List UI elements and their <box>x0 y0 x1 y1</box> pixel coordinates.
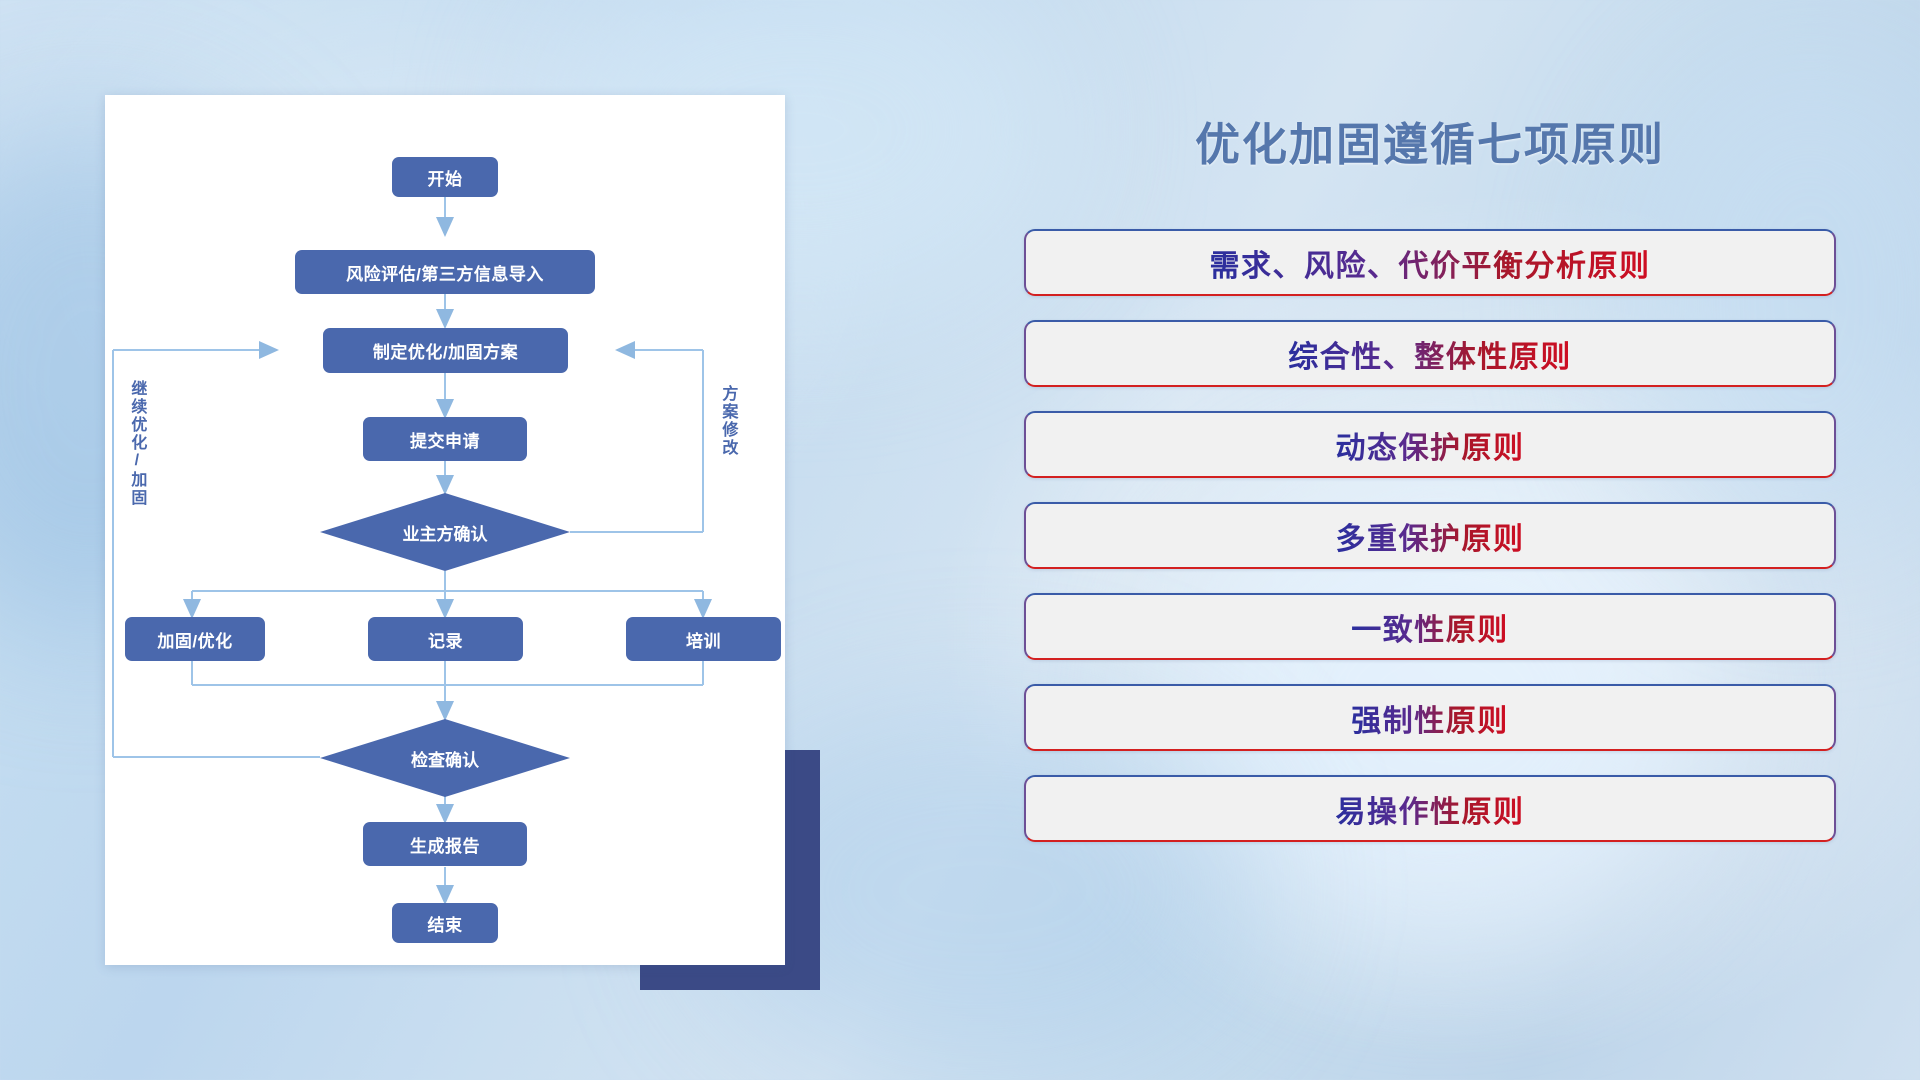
principle-label-5: 一致性原则 <box>1351 605 1509 649</box>
flow-node-reinforce-optimize-label: 加固/优化 <box>157 627 232 652</box>
flow-node-submit-application[interactable]: 提交申请 <box>363 417 527 461</box>
flow-edge-label-left-loop: 继续优化/加固 <box>127 380 145 560</box>
flow-node-end[interactable]: 结束 <box>392 903 498 943</box>
principle-card-7[interactable]: 易操作性原则 <box>1024 775 1836 842</box>
principle-label-2: 综合性、整体性原则 <box>1288 332 1572 376</box>
flow-node-record-label: 记录 <box>428 627 463 652</box>
flow-node-end-label: 结束 <box>428 911 463 936</box>
principle-label-3: 动态保护原则 <box>1336 423 1525 467</box>
flow-node-training[interactable]: 培训 <box>626 617 781 661</box>
principle-card-1[interactable]: 需求、风险、代价平衡分析原则 <box>1024 229 1836 296</box>
flow-node-reinforce-optimize[interactable]: 加固/优化 <box>125 617 265 661</box>
principle-label-1: 需求、风险、代价平衡分析原则 <box>1210 241 1651 285</box>
flow-node-submit-application-label: 提交申请 <box>410 427 480 452</box>
flow-node-start-label: 开始 <box>428 165 463 190</box>
flow-edge-label-right-loop: 方案修改 <box>718 385 736 515</box>
principles-list: 需求、风险、代价平衡分析原则 综合性、整体性原则 动态保护原则 多重保护原则 一… <box>1000 229 1860 842</box>
principle-card-4[interactable]: 多重保护原则 <box>1024 502 1836 569</box>
principle-label-6: 强制性原则 <box>1351 696 1509 740</box>
principle-label-4: 多重保护原则 <box>1336 514 1525 558</box>
flow-node-start[interactable]: 开始 <box>392 157 498 197</box>
principle-card-3[interactable]: 动态保护原则 <box>1024 411 1836 478</box>
principle-card-6[interactable]: 强制性原则 <box>1024 684 1836 751</box>
flow-node-make-plan-label: 制定优化/加固方案 <box>373 338 518 363</box>
principle-label-7: 易操作性原则 <box>1336 787 1525 831</box>
flow-node-generate-report[interactable]: 生成报告 <box>363 822 527 866</box>
flow-node-risk-assessment-label: 风险评估/第三方信息导入 <box>346 260 544 285</box>
flow-decision-check-confirm-label: 检查确认 <box>411 746 479 771</box>
flow-node-generate-report-label: 生成报告 <box>410 832 480 857</box>
flow-decision-owner-confirm-label: 业主方确认 <box>403 520 488 545</box>
principles-panel: 优化加固遵循七项原则 需求、风险、代价平衡分析原则 综合性、整体性原则 动态保护… <box>1000 70 1860 1020</box>
flow-node-record[interactable]: 记录 <box>368 617 523 661</box>
principle-card-5[interactable]: 一致性原则 <box>1024 593 1836 660</box>
flow-node-risk-assessment[interactable]: 风险评估/第三方信息导入 <box>295 250 595 294</box>
principle-card-2[interactable]: 综合性、整体性原则 <box>1024 320 1836 387</box>
page-title: 优化加固遵循七项原则 <box>1000 108 1860 173</box>
flow-node-training-label: 培训 <box>686 627 721 652</box>
flowchart-card: 开始 风险评估/第三方信息导入 制定优化/加固方案 提交申请 业主方确认 加固/… <box>105 95 785 965</box>
flow-node-make-plan[interactable]: 制定优化/加固方案 <box>323 328 568 373</box>
